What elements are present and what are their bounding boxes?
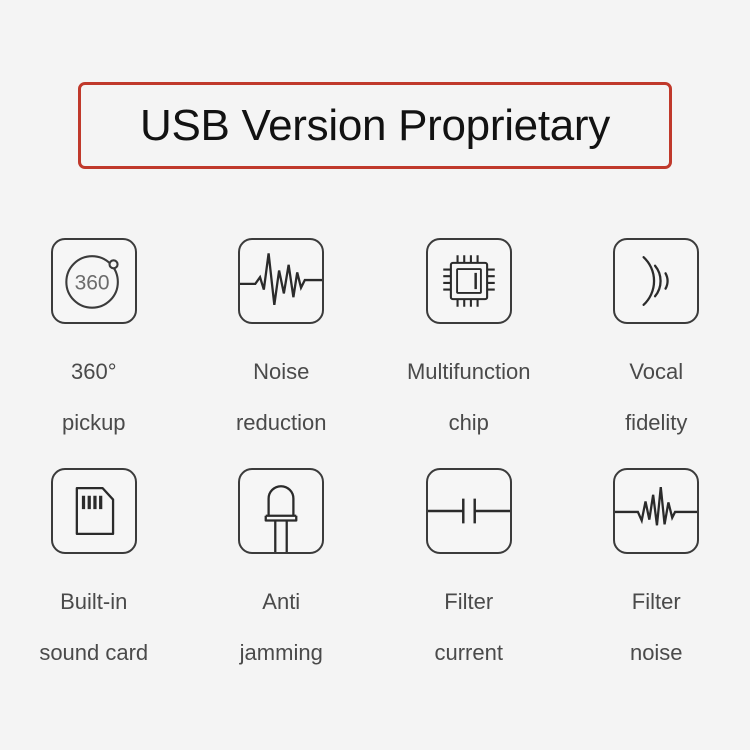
feature-caption: Anti jamming bbox=[240, 576, 323, 678]
page-title: USB Version Proprietary bbox=[140, 104, 610, 148]
caption-line-1: Multifunction bbox=[407, 359, 531, 384]
feature-item-built-in-sound-card: Built-in sound card bbox=[0, 468, 188, 698]
feature-caption: Filter noise bbox=[630, 576, 683, 678]
feature-item-vocal-fidelity: Vocal fidelity bbox=[563, 238, 750, 468]
caption-line-2: sound card bbox=[39, 627, 148, 678]
led-diode-icon bbox=[238, 468, 324, 554]
banner-container: USB Version Proprietary bbox=[0, 82, 750, 169]
feature-item-filter-current: Filter current bbox=[375, 468, 563, 698]
feature-item-noise-reduction: Noise reduction bbox=[188, 238, 376, 468]
caption-line-2: noise bbox=[630, 627, 683, 678]
filter-waveform-icon bbox=[613, 468, 699, 554]
caption-line-1: 360° bbox=[71, 359, 117, 384]
caption-line-1: Vocal bbox=[629, 359, 683, 384]
caption-line-1: Noise bbox=[253, 359, 309, 384]
feature-item-anti-jamming: Anti jamming bbox=[188, 468, 376, 698]
360-label: 360 bbox=[74, 272, 109, 295]
caption-line-2: pickup bbox=[62, 397, 126, 448]
caption-line-2: fidelity bbox=[625, 397, 687, 448]
capacitor-icon bbox=[426, 468, 512, 554]
caption-line-2: chip bbox=[407, 397, 531, 448]
feature-caption: Multifunction chip bbox=[407, 346, 531, 448]
feature-item-filter-noise: Filter noise bbox=[563, 468, 750, 698]
caption-line-1: Built-in bbox=[60, 589, 127, 614]
feature-caption: Vocal fidelity bbox=[625, 346, 687, 448]
noise-waveform-icon bbox=[238, 238, 324, 324]
caption-line-1: Anti bbox=[262, 589, 300, 614]
title-banner: USB Version Proprietary bbox=[78, 82, 672, 169]
360-pickup-icon: 360 bbox=[51, 238, 137, 324]
caption-line-1: Filter bbox=[632, 589, 681, 614]
sound-card-icon bbox=[51, 468, 137, 554]
chip-icon bbox=[426, 238, 512, 324]
feature-item-360-pickup: 360 360° pickup bbox=[0, 238, 188, 468]
feature-caption: Built-in sound card bbox=[39, 576, 148, 678]
feature-grid: 360 360° pickup Noise reduction bbox=[0, 238, 750, 698]
feature-caption: Filter current bbox=[435, 576, 503, 678]
feature-item-multifunction-chip: Multifunction chip bbox=[375, 238, 563, 468]
caption-line-2: current bbox=[435, 627, 503, 678]
caption-line-1: Filter bbox=[444, 589, 493, 614]
sound-wave-icon bbox=[613, 238, 699, 324]
caption-line-2: reduction bbox=[236, 397, 327, 448]
feature-caption: 360° pickup bbox=[62, 346, 126, 448]
product-feature-panel: USB Version Proprietary 360 360° pickup bbox=[0, 0, 750, 750]
feature-caption: Noise reduction bbox=[236, 346, 327, 448]
caption-line-2: jamming bbox=[240, 627, 323, 678]
